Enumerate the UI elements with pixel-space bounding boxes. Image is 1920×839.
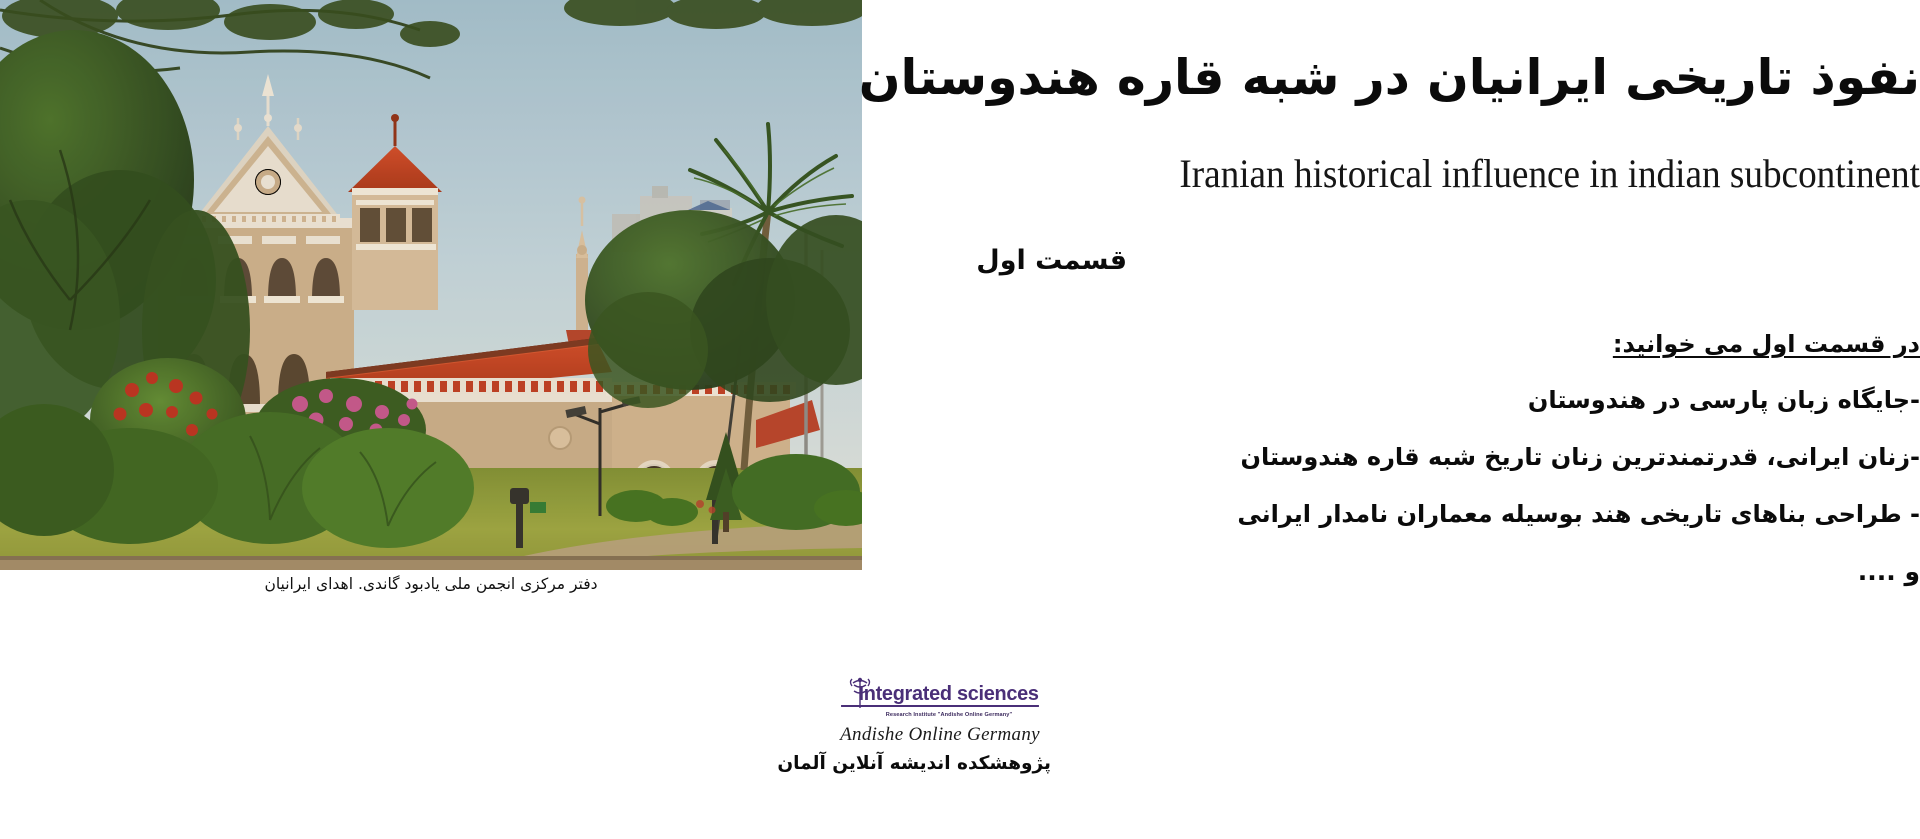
logo-mark: Integrated sciences: [829, 684, 1051, 710]
photo-caption: دفتر مرکزی انجمن ملی یادبود گاندی. اهدای…: [0, 575, 862, 593]
list-item: -جایگاه زبان پارسی در هندوستان: [880, 386, 1920, 414]
logo-tagline: Research Institute "Andishe Online Germa…: [829, 712, 1051, 718]
slide-page: دفتر مرکزی انجمن ملی یادبود گاندی. اهدای…: [0, 0, 1920, 839]
list-item: و ....: [880, 557, 1920, 586]
toc-heading: در قسمت اول می خوانید:: [880, 330, 1920, 358]
page-title-persian: نفوذ تاریخی ایرانیان در شبه قاره هندوستا…: [880, 52, 1920, 103]
list-item: -زنان ایرانی، قدرتمندترین زنان تاریخ شبه…: [880, 443, 1920, 471]
logo-script-line: Andishe Online Germany: [829, 724, 1051, 746]
page-title-english: Iranian historical influence in indian s…: [953, 152, 1920, 196]
logo-persian-line: پژوهشکده اندیشه آنلاین آلمان: [829, 753, 1051, 774]
list-item: - طراحی بناهای تاریخی هند بوسیله معماران…: [880, 500, 1920, 528]
part-label: قسمت اول: [976, 245, 1127, 276]
palace-illustration: [0, 0, 862, 570]
table-of-contents: در قسمت اول می خوانید: -جایگاه زبان پارس…: [880, 330, 1920, 586]
logo-wordmark: Integrated sciences: [841, 684, 1039, 707]
aga-khan-palace-photograph: [0, 0, 862, 570]
organization-logo: Integrated sciences Research Institute "…: [829, 684, 1051, 774]
